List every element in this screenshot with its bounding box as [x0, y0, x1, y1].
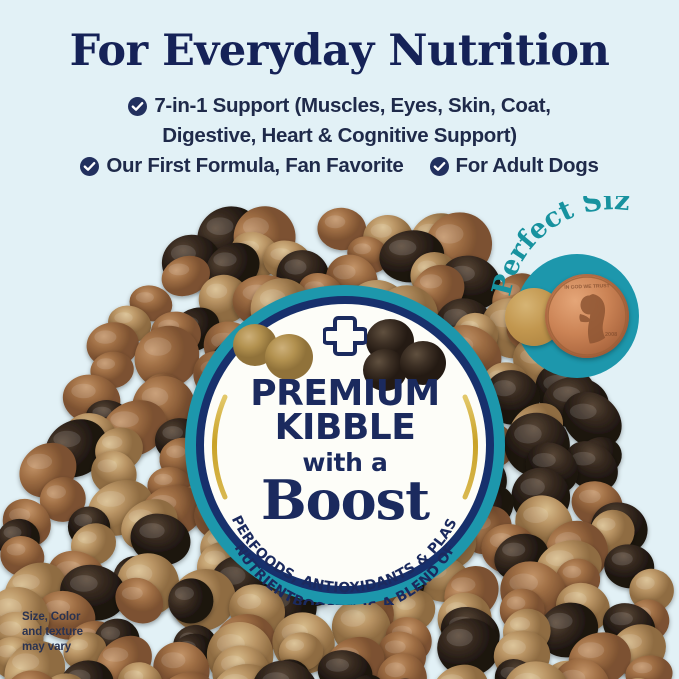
kibble-highlight: [78, 531, 97, 543]
kibble-highlight: [570, 404, 597, 420]
kibble-highlight: [502, 640, 526, 655]
kibble-highlight: [27, 454, 52, 469]
kibble-highlight: [510, 617, 530, 631]
kibble-highlight: [136, 292, 154, 303]
disclaimer-line-2: and texture: [22, 625, 152, 640]
kibble-highlight: [70, 575, 98, 592]
kibble-highlight: [144, 337, 172, 355]
badge-title: PREMIUM KIBBLE: [185, 377, 505, 445]
kibble-highlight: [597, 518, 616, 531]
kibble-highlight: [284, 259, 306, 274]
light-kibble-cluster: [233, 324, 313, 380]
kibble-highlight: [97, 491, 125, 507]
kibble-highlight: [612, 552, 633, 565]
kibble-highlight: [520, 478, 545, 495]
kibble-highlight: [325, 215, 346, 228]
bullet-3-label: For Adult Dogs: [456, 152, 599, 180]
kibble-highlight: [636, 577, 655, 590]
kibble-highlight: [122, 587, 143, 600]
kibble-highlight: [514, 424, 542, 443]
kibble-highlight: [389, 240, 416, 256]
kibble-highlight: [385, 640, 406, 653]
kibble-highlight: [579, 490, 601, 503]
kibble-highlight: [213, 252, 236, 266]
kibble-highlight: [326, 659, 349, 672]
kibble-highlight: [71, 384, 95, 399]
kibble-highlight: [154, 474, 172, 485]
kibble-highlight: [333, 265, 356, 280]
kibble-highlight: [110, 411, 138, 427]
kibble-highlight: [563, 566, 582, 578]
kibble-highlight: [7, 544, 26, 556]
kibble-highlight: [371, 224, 392, 238]
premium-kibble-badge: NUTRIENTBOOST™ IS A BLEND OF SUPERFOODS,…: [185, 285, 505, 605]
kibble-highlight: [633, 662, 653, 673]
check-circle-icon: [80, 157, 99, 176]
plus-cross-icon: [323, 314, 367, 358]
kibble-highlight: [341, 610, 366, 627]
kibble-highlight: [47, 485, 66, 498]
kibble-highlight: [436, 224, 464, 243]
disclaimer: Size, Color and texture may vary: [22, 610, 152, 655]
kibble-highlight: [207, 217, 234, 235]
bullet-1-line-1: 7-in-1 Support (Muscles, Eyes, Skin, Coa…: [154, 92, 550, 120]
kibble-highlight: [507, 596, 526, 609]
kibble-highlight: [385, 662, 406, 677]
kibble-highlight: [532, 453, 555, 467]
kibble-highlight: [114, 312, 132, 323]
bullet-3: For Adult Dogs: [430, 152, 599, 180]
bullet-2: Our First Formula, Fan Favorite: [80, 152, 403, 180]
kibble-highlight: [97, 358, 115, 369]
kibble-highlight: [353, 243, 371, 254]
check-circle-icon: [430, 157, 449, 176]
disclaimer-line-3: may vary: [22, 640, 152, 655]
bullet-row-1-cont: Digestive, Heart & Cognitive Support): [0, 122, 679, 150]
kibble-highlight: [502, 543, 525, 557]
kibble-highlight: [12, 653, 39, 670]
kibble-highlight: [166, 445, 185, 458]
kibble-highlight: [139, 523, 164, 538]
kibble-highlight: [98, 459, 118, 472]
kibble-highlight: [169, 264, 190, 276]
kibble-highlight: [610, 612, 633, 625]
perfect-size-label: Perfect Size!: [487, 196, 679, 366]
kibble-highlight: [578, 642, 604, 658]
kibble-highlight: [447, 629, 473, 646]
kibble-highlight: [162, 426, 183, 439]
svg-text:Perfect Size!: Perfect Size!: [487, 196, 631, 299]
kibble-highlight: [523, 507, 548, 523]
page-title: For Everyday Nutrition: [0, 26, 679, 76]
bullet-1-line-2: Digestive, Heart & Cognitive Support): [162, 122, 517, 150]
badge-title-line-2: KIBBLE: [275, 407, 416, 448]
kibble-highlight: [161, 652, 185, 668]
kibble-highlight: [0, 621, 21, 636]
bullet-row-1: 7-in-1 Support (Muscles, Eyes, Skin, Coa…: [0, 92, 679, 120]
kibble-highlight: [286, 639, 305, 651]
kibble-highlight: [94, 330, 116, 343]
badge-boost-word: Boost: [185, 468, 505, 532]
disclaimer-line-1: Size, Color: [22, 610, 152, 625]
kibble-highlight: [547, 613, 572, 629]
check-circle-icon: [128, 97, 147, 116]
feature-bullet-list: 7-in-1 Support (Muscles, Eyes, Skin, Coa…: [0, 92, 679, 182]
perfect-size-callout: IN GOD WE TRUST 2008 Perfect Size!: [487, 196, 679, 366]
product-marketing-image: For Everyday Nutrition 7-in-1 Support (M…: [0, 0, 679, 679]
bullet-2-label: Our First Formula, Fan Favorite: [106, 152, 403, 180]
bullet-row-2: Our First Formula, Fan Favorite For Adul…: [0, 152, 679, 180]
kibble-highlight: [102, 436, 122, 449]
